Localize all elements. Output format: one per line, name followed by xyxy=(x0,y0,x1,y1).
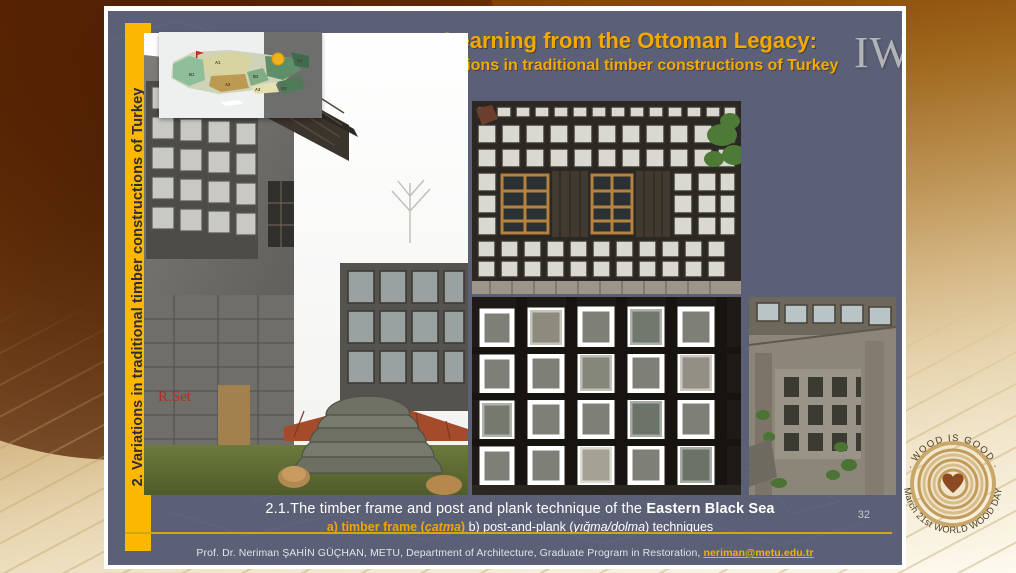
world-wood-day-logo: · WOOD IS GOOD · March 21st WORLD WOOD D… xyxy=(894,425,1012,543)
slide-caption: 2.1.The timber frame and post and plank … xyxy=(144,500,896,536)
svg-text:B2: B2 xyxy=(253,74,259,79)
footer-email-link[interactable]: neriman@metu.edu.tr xyxy=(703,547,813,559)
caption-line1-bold: Eastern Black Sea xyxy=(646,501,774,517)
caption-line1-prefix: 2.1.The timber frame and post and plank … xyxy=(265,501,646,517)
svg-text:B1: B1 xyxy=(189,72,195,77)
photo-post-and-plank-detail xyxy=(749,297,896,495)
caption-line-1: 2.1.The timber frame and post and plank … xyxy=(144,500,896,518)
turkey-region-map: A1 A2 A3 B1 B2 B3 B4 xyxy=(159,32,322,118)
slide-white-border: 2. Variations in traditional timber cons… xyxy=(104,6,906,569)
svg-text:A1: A1 xyxy=(215,60,221,65)
photo-infill-panel-closeup xyxy=(472,297,741,495)
photo-timber-frame-facade xyxy=(472,101,741,294)
presentation-slide: 2. Variations in traditional timber cons… xyxy=(108,11,902,565)
svg-text:R.Set: R.Set xyxy=(158,389,192,405)
svg-text:B3: B3 xyxy=(281,86,287,91)
svg-text:B4: B4 xyxy=(297,58,303,63)
footer-author-text: Prof. Dr. Neriman ŞAHİN GÜÇHAN, METU, De… xyxy=(196,547,703,559)
svg-text:A2: A2 xyxy=(225,82,231,87)
footer-divider xyxy=(125,532,892,534)
slide-backdrop: 2. Variations in traditional timber cons… xyxy=(0,0,1016,573)
slide-number: 32 xyxy=(858,509,870,521)
svg-text:A3: A3 xyxy=(255,87,261,92)
footer-credit: Prof. Dr. Neriman ŞAHİN GÜÇHAN, METU, De… xyxy=(108,547,902,559)
